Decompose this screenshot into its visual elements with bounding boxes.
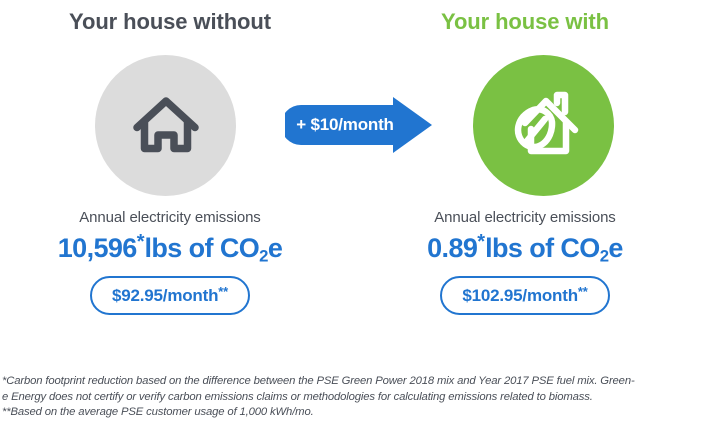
right-emissions-footnote-marker: * [477,231,485,253]
upgrade-cost-arrow: + $10/month [285,96,433,154]
right-stat-caption: Annual electricity emissions [370,209,680,226]
footnotes: *Carbon footprint reduction based on the… [2,374,697,421]
left-panel-heading: Your house without [0,9,340,35]
left-emissions-value: 10,596*lbs of CO2e [0,231,340,264]
right-emissions-unit-suffix: e [608,233,622,263]
left-price-pill-wrap: $92.95/month** [0,276,340,315]
footnote-line-2: e Energy does not certify or verify carb… [2,390,697,406]
footnote-line-1: *Carbon footprint reduction based on the… [2,374,697,390]
right-price-pill-wrap: $102.95/month** [370,276,680,315]
right-emissions-number: 0.89 [427,233,477,263]
right-price-pill[interactable]: $102.95/month** [440,276,609,315]
left-emissions-footnote-marker: * [137,231,145,253]
left-stat-caption: Annual electricity emissions [0,209,340,226]
right-panel-heading: Your house with [370,9,680,35]
left-stats-block: Annual electricity emissions 10,596*lbs … [0,209,340,315]
left-price-text: $92.95/month [112,286,218,305]
left-emissions-number: 10,596 [58,233,137,263]
left-emissions-unit-suffix: e [268,233,282,263]
right-price-text: $102.95/month [462,286,578,305]
right-price-footnote-marker: ** [578,284,588,299]
left-icon-circle [95,55,236,196]
footnote-line-3: **Based on the average PSE customer usag… [2,405,697,421]
right-emissions-value: 0.89*lbs of CO2e [370,231,680,264]
left-emissions-unit-subscript: 2 [259,247,268,266]
right-stats-block: Annual electricity emissions 0.89*lbs of… [370,209,680,315]
right-icon-circle [473,55,614,196]
left-emissions-unit-prefix: lbs of CO [145,233,260,263]
arrow-label: + $10/month [285,96,405,154]
right-emissions-unit-prefix: lbs of CO [485,233,600,263]
left-price-pill[interactable]: $92.95/month** [90,276,250,315]
infographic-root: Your house without Your house with + $10… [0,0,701,428]
left-price-footnote-marker: ** [218,284,228,299]
